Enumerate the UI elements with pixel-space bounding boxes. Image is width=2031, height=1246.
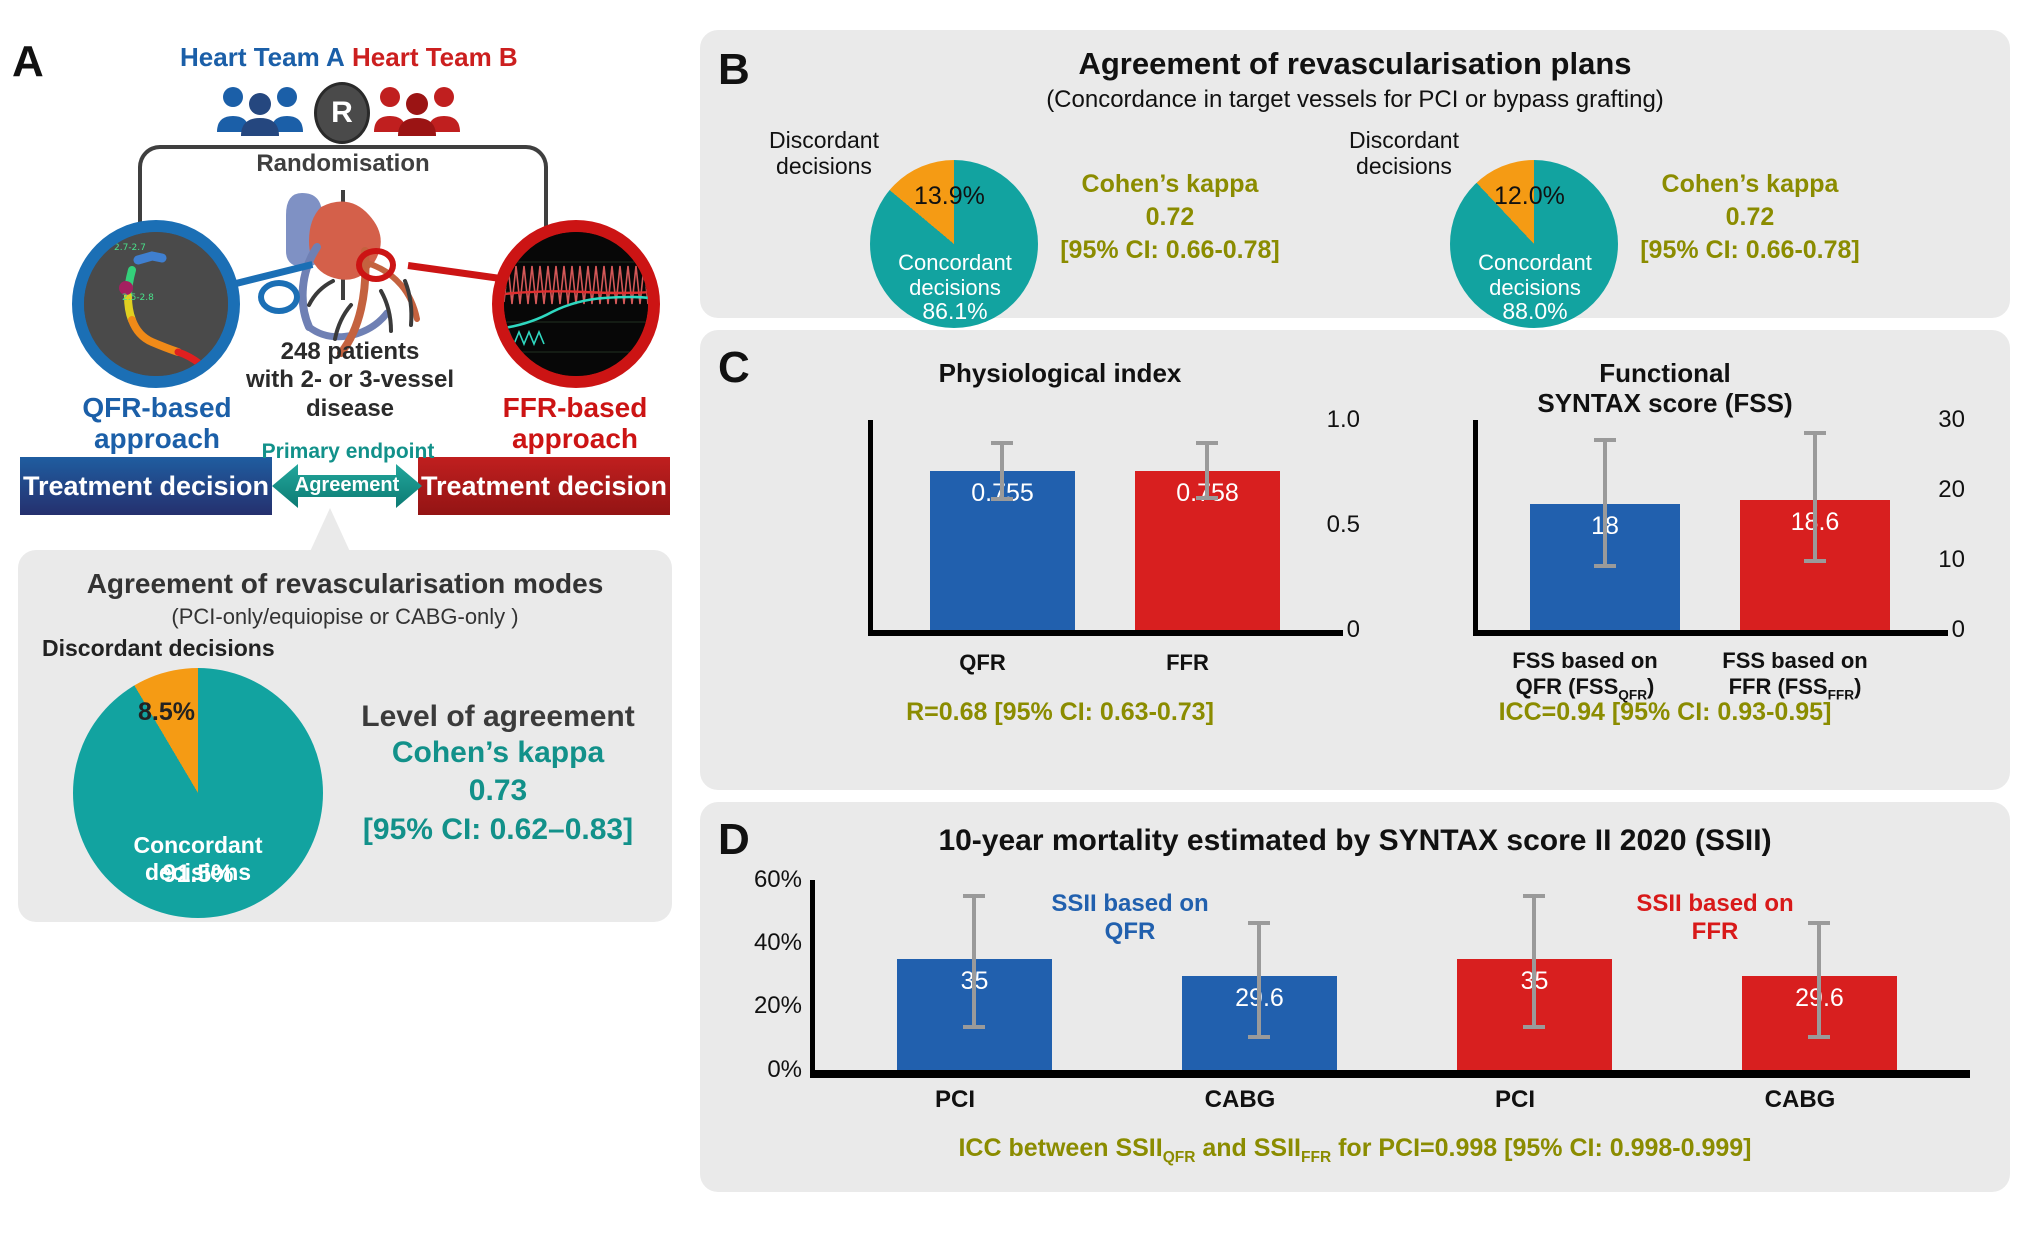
panel-c-letter: C [718, 346, 750, 390]
pci-pie-block: Discordant decisions 13.9% Concordant de… [740, 120, 1300, 315]
x-axis-c-right [1473, 630, 1948, 636]
card-a-kappa-value: 0.73 [338, 772, 658, 810]
errorbar-ffr-cap-top [1196, 441, 1218, 445]
card-a-statistics: Level of agreement Cohen’s kappa 0.73 [9… [338, 700, 658, 849]
errorbar-qfr-cap-top [991, 441, 1013, 445]
panel-d-card: D 10-year mortality estimated by SYNTAX … [700, 802, 2010, 1192]
errorbar-fss-ffr-cap-bottom [1804, 559, 1826, 563]
patients-line-2: with 2- or 3-vessel disease [246, 366, 454, 421]
card-a-kappa-ci: [95% CI: 0.62–0.83] [338, 811, 658, 849]
agreement-arrow-label: Agreement [272, 474, 422, 497]
qfr-approach-label: QFR-based approach [52, 392, 262, 455]
xlabel-d-cabg-ffr: CABG [1675, 1086, 1925, 1114]
treatment-decision-qfr-box: Treatment decision [20, 457, 272, 515]
randomisation-badge: R [314, 82, 370, 144]
pci-kappa-ci: [95% CI: 0.66-0.78] [1040, 234, 1300, 267]
panel-d-stat-suffix: for PCI=0.998 [95% CI: 0.998-0.999] [1331, 1134, 1751, 1162]
ytick-d-0: 0% [702, 1056, 802, 1084]
pci-kappa-label: Cohen’s kappa [1040, 168, 1300, 201]
xlabel-qfr: QFR [905, 650, 1060, 676]
errorbar-fss-ffr-cap-top [1804, 431, 1826, 435]
physiological-index-stat: R=0.68 [95% CI: 0.63-0.73] [760, 698, 1360, 727]
fss-title-line-1: Functional [1599, 358, 1730, 388]
pci-kappa-stats: Cohen’s kappa 0.72 [95% CI: 0.66-0.78] [1040, 168, 1300, 267]
cabg-kappa-stats: Cohen’s kappa 0.72 [95% CI: 0.66-0.78] [1620, 168, 1880, 267]
xlabel-d-pci-ffr: PCI [1390, 1086, 1640, 1114]
ytick-d-20: 20% [702, 992, 802, 1020]
cabg-kappa-ci: [95% CI: 0.66-0.78] [1620, 234, 1880, 267]
errorbar-fss-ffr-line [1813, 431, 1817, 559]
errorbar-qfr-cap-bottom [991, 497, 1013, 501]
ffr-pressure-tracing-image [492, 220, 660, 388]
pci-kappa-value: 0.72 [1040, 201, 1300, 234]
errorbar-ssii-qfr-cabg-cap-bottom [1248, 1035, 1270, 1039]
functional-syntax-score-chart: Functional SYNTAX score (FSS) 30 20 10 0… [1365, 358, 1965, 778]
fss-title-line-2: SYNTAX score (FSS) [1537, 388, 1792, 418]
errorbar-ssii-qfr-cabg-cap-top [1248, 921, 1270, 925]
panel-a: A Heart Team A Heart Team B R Randomisat… [0, 0, 690, 1246]
treatment-decision-ffr-box: Treatment decision [418, 457, 670, 515]
plot-area-d: 35 29.6 35 29.6 [812, 880, 1967, 1070]
panel-b-title: Agreement of revascularisation plans [700, 46, 2010, 82]
panel-d-stat-sub-ffr: FFR [1301, 1149, 1331, 1166]
pci-discordant-label: Discordant decisions [754, 128, 894, 180]
errorbar-ssii-ffr-pci-line [1532, 894, 1536, 1024]
panel-d-stat-prefix: ICC between SSII [958, 1134, 1162, 1162]
xlabel-ffr: FFR [1110, 650, 1265, 676]
errorbar-ffr-line [1205, 441, 1209, 496]
errorbar-ffr-cap-bottom [1196, 496, 1218, 500]
panel-c-card: C Physiological index 1.0 0.5 0 0.755 0.… [700, 330, 2010, 790]
cabg-concordant-percent: 88.0% [1460, 298, 1610, 325]
xlabel-fss-ffr: FSS based onFFR (FSSFFR) [1705, 648, 1885, 704]
errorbar-ssii-qfr-pci-line [972, 894, 976, 1024]
errorbar-ssii-qfr-pci-cap-top [963, 894, 985, 898]
physiological-index-title: Physiological index [760, 358, 1360, 388]
errorbar-ssii-ffr-cabg-line [1817, 921, 1821, 1035]
cabg-concordant-label: Concordant decisions [1460, 250, 1610, 300]
errorbar-fss-qfr-cap-bottom [1594, 564, 1616, 568]
cabg-kappa-label: Cohen’s kappa [1620, 168, 1880, 201]
errorbar-ssii-qfr-pci-cap-bottom [963, 1025, 985, 1029]
xlabel-fss-qfr: FSS based onQFR (FSSQFR) [1495, 648, 1675, 704]
errorbar-fss-qfr-cap-top [1594, 438, 1616, 442]
xlabel-d-cabg-qfr: CABG [1115, 1086, 1365, 1114]
panel-d-stat-mid: and SSII [1195, 1134, 1301, 1162]
heart-team-b-label: Heart Team B [352, 42, 518, 73]
ffr-vessel-marker-ring [356, 248, 396, 282]
errorbar-ssii-ffr-pci-cap-top [1523, 894, 1545, 898]
pci-concordant-label: Concordant decisions [880, 250, 1030, 300]
panel-b-card: B Agreement of revascularisation plans (… [700, 30, 2010, 318]
x-axis-d [810, 1070, 1970, 1078]
panel-a-letter: A [12, 40, 44, 84]
xlabel-d-pci-qfr: PCI [830, 1086, 1080, 1114]
agreement-revascularisation-modes-card: Agreement of revascularisation modes (PC… [18, 550, 672, 922]
card-a-concordant-percent: 91.5% [78, 860, 318, 889]
randomisation-label: Randomisation [188, 150, 498, 178]
card-a-level-of-agreement-label: Level of agreement [338, 700, 658, 734]
panel-d-title: 10-year mortality estimated by SYNTAX sc… [700, 824, 2010, 858]
card-a-discordant-label: Discordant decisions [42, 635, 275, 662]
errorbar-ssii-ffr-cabg-cap-bottom [1808, 1035, 1830, 1039]
qfr-vessel-marker-ring [258, 280, 300, 314]
card-a-discordant-percent: 8.5% [138, 698, 195, 727]
errorbar-fss-qfr-line [1603, 438, 1607, 564]
cabg-discordant-percent: 12.0% [1494, 182, 1565, 211]
x-axis-c-left [868, 630, 1343, 636]
heart-team-b-people-icon [370, 84, 464, 136]
callout-tail [308, 508, 352, 556]
plot-area-c-right: 18 18.6 [1475, 420, 1945, 630]
primary-endpoint-label: Primary endpoint [258, 440, 438, 464]
pci-discordant-percent: 13.9% [914, 182, 985, 211]
pci-concordant-percent: 86.1% [880, 298, 1030, 325]
errorbar-ssii-ffr-cabg-cap-top [1808, 921, 1830, 925]
panel-d-stat: ICC between SSIIQFR and SSIIFFR for PCI=… [700, 1134, 2010, 1167]
heart-team-a-people-icon [213, 84, 307, 136]
card-a-title: Agreement of revascularisation modes [18, 568, 672, 600]
card-a-subtitle: (PCI-only/equiopise or CABG-only ) [18, 604, 672, 630]
plot-area-c-left: 0.755 0.758 [870, 420, 1340, 630]
errorbar-ssii-qfr-cabg-line [1257, 921, 1261, 1035]
cabg-discordant-label: Discordant decisions [1334, 128, 1474, 180]
errorbar-ssii-ffr-pci-cap-bottom [1523, 1025, 1545, 1029]
heart-team-a-label: Heart Team A [180, 42, 345, 73]
physiological-index-chart: Physiological index 1.0 0.5 0 0.755 0.75… [760, 358, 1360, 778]
panel-d-stat-sub-qfr: QFR [1163, 1149, 1196, 1166]
ytick-d-40: 40% [702, 929, 802, 957]
card-a-kappa-label: Cohen’s kappa [338, 734, 658, 772]
patients-line-1: 248 patients [281, 338, 420, 365]
panel-b-subtitle: (Concordance in target vessels for PCI o… [700, 86, 2010, 114]
cabg-pie-block: Discordant decisions 12.0% Concordant de… [1320, 120, 1880, 315]
functional-syntax-score-stat: ICC=0.94 [95% CI: 0.93-0.95] [1365, 698, 1965, 727]
cabg-kappa-value: 0.72 [1620, 201, 1880, 234]
svg-text:2.7-2.7: 2.7-2.7 [114, 243, 146, 253]
ytick-d-60: 60% [702, 866, 802, 894]
svg-text:2.5-2.8: 2.5-2.8 [122, 293, 154, 303]
errorbar-qfr-line [1000, 441, 1004, 497]
ffr-approach-label: FFR-based approach [470, 392, 680, 455]
